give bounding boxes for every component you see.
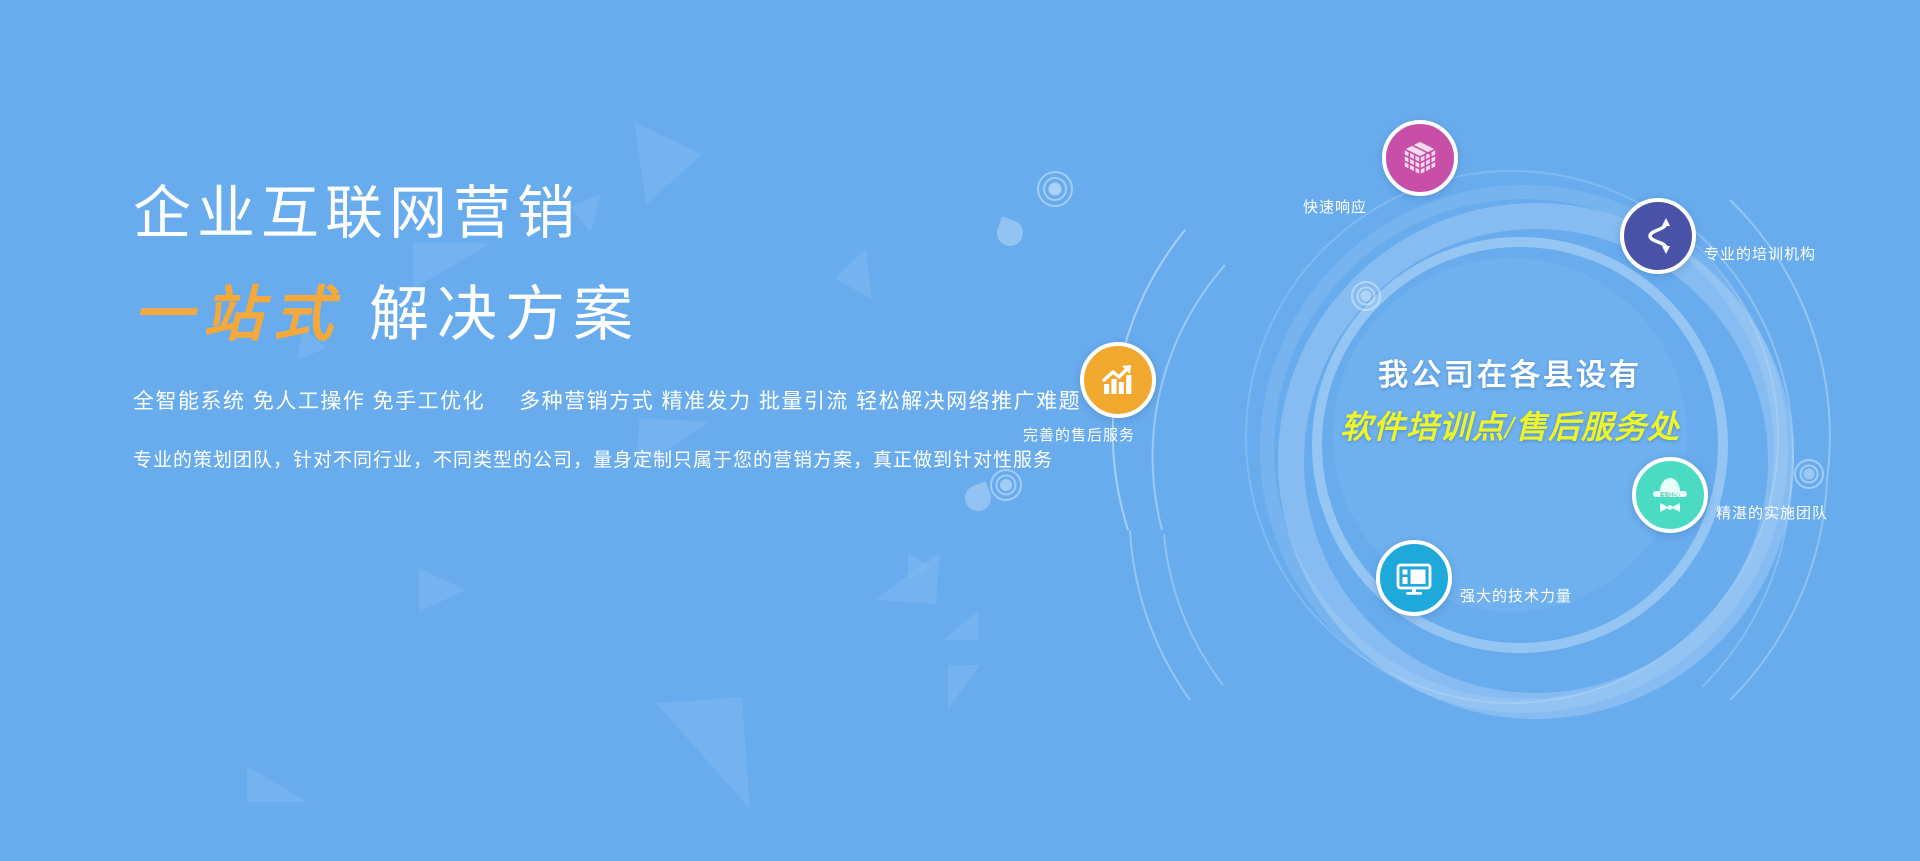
- decorative-arcs: [1090, 60, 1920, 850]
- triangle-shape: [247, 766, 307, 802]
- node-bubble[interactable]: 客服中心: [1632, 457, 1708, 533]
- growth-chart-icon: [1096, 358, 1140, 402]
- subtitle-rest: 解决方案: [369, 281, 641, 348]
- node-bubble[interactable]: [1382, 120, 1458, 196]
- triangle-shape: [948, 665, 980, 709]
- circular-diagram: 我公司在各县设有 软件培训点/售后服务处 快速响应: [1090, 60, 1920, 850]
- node-label: 精湛的实施团队: [1716, 502, 1828, 523]
- target-icon: [991, 470, 1021, 500]
- center-message: 我公司在各县设有 软件培训点/售后服务处: [1305, 350, 1715, 448]
- hat-bowtie-icon: 客服中心: [1646, 472, 1694, 518]
- triangle-shape: [656, 697, 750, 815]
- triangle-shape: [944, 610, 978, 640]
- page-title: 企业互联网营销: [133, 185, 1053, 243]
- triangle-shape: [419, 568, 465, 612]
- node-after-sales-service[interactable]: 完善的售后服务: [1080, 342, 1156, 418]
- node-label: 快速响应: [1303, 196, 1367, 217]
- feature-line-1a: 全智能系统 免人工操作 免手工优化: [133, 390, 485, 413]
- center-line-1: 我公司在各县设有: [1305, 350, 1715, 394]
- subtitle-highlight: 一站式: [133, 281, 369, 348]
- node-fast-response[interactable]: 快速响应: [1382, 120, 1458, 196]
- feature-line-1b: 多种营销方式 精准发力 批量引流 轻松解决网络推广难题: [519, 390, 1081, 413]
- cube-icon: [1398, 136, 1442, 180]
- hero-banner: 企业互联网营销 一站式解决方案 全智能系统 免人工操作 免手工优化多种营销方式 …: [0, 0, 1920, 861]
- target-icon: [1352, 282, 1380, 310]
- node-label: 专业的培训机构: [1704, 243, 1816, 264]
- node-bubble[interactable]: [1080, 342, 1156, 418]
- center-line-2: 软件培训点/售后服务处: [1305, 402, 1715, 448]
- feature-line-2: 专业的策划团队，针对不同行业，不同类型的公司，量身定制只属于您的营销方案，真正做…: [133, 445, 1053, 472]
- node-expert-implementation[interactable]: 客服中心 精湛的实施团队: [1632, 457, 1708, 533]
- page-subtitle: 一站式解决方案: [133, 285, 1053, 345]
- node-label: 强大的技术力量: [1460, 585, 1572, 606]
- hero-copy: 企业互联网营销 一站式解决方案 全智能系统 免人工操作 免手工优化多种营销方式 …: [133, 185, 1053, 472]
- monitor-icon: [1392, 556, 1436, 600]
- triangle-shape: [908, 553, 932, 581]
- node-label: 完善的售后服务: [1023, 424, 1135, 445]
- hat-caption: 客服中心: [1660, 490, 1681, 498]
- node-bubble[interactable]: [1620, 198, 1696, 274]
- node-strong-technology[interactable]: 强大的技术力量: [1376, 540, 1452, 616]
- node-bubble[interactable]: [1376, 540, 1452, 616]
- target-icon: [1795, 460, 1823, 488]
- node-professional-training[interactable]: 专业的培训机构: [1620, 198, 1696, 274]
- feature-line-1: 全智能系统 免人工操作 免手工优化多种营销方式 精准发力 批量引流 轻松解决网络…: [133, 385, 1053, 415]
- pencil-swirl-icon: [1636, 214, 1680, 258]
